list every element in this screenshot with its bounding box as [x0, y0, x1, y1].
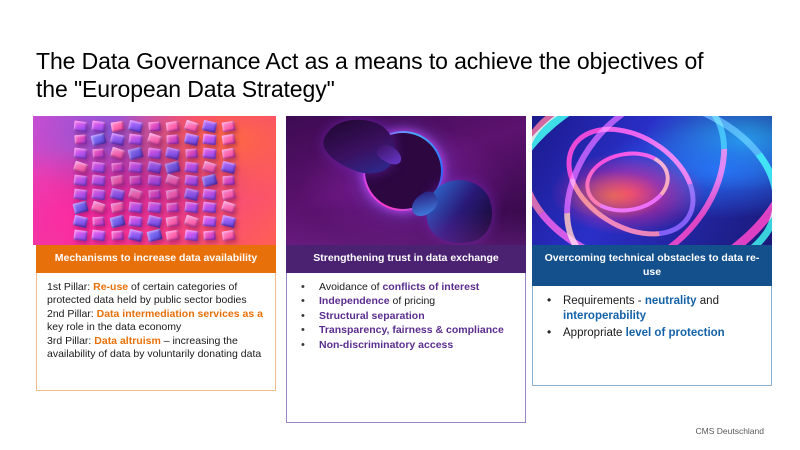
bullet-icon: •	[547, 293, 551, 307]
text-run: 2nd Pillar:	[47, 308, 97, 320]
card-header-mechanisms: Mechanisms to increase data availability	[36, 245, 276, 273]
highlighted-text-run: Transparency, fairness & compliance	[319, 324, 504, 336]
list-item: •Avoidance of conflicts of interest	[293, 281, 519, 295]
card-trust: Strengthening trust in data exchange •Av…	[286, 116, 526, 423]
list-item: •Appropriate level of protection	[539, 326, 765, 341]
body-paragraph: 3rd Pillar: Data altruism – increasing t…	[47, 335, 266, 362]
list-item: •Requirements - neutrality and interoper…	[539, 294, 765, 324]
highlighted-text-run: Re-use	[93, 281, 128, 293]
highlighted-text-run: level of protection	[626, 327, 725, 339]
pink-cube-grid-image	[33, 116, 276, 245]
highlighted-text-run: conflicts of interest	[382, 281, 479, 293]
page-title: The Data Governance Act as a means to ac…	[36, 47, 736, 103]
highlighted-text-run: Data intermediation services as a	[97, 308, 263, 320]
text-run: 1st Pillar:	[47, 281, 93, 293]
footer-credit: CMS Deutschland	[695, 426, 764, 436]
highlighted-text-run: Independence	[319, 295, 390, 307]
list-item: •Structural separation	[293, 310, 519, 324]
list-item: •Non-discriminatory access	[293, 339, 519, 353]
text-run: 3rd Pillar:	[47, 335, 94, 347]
abstract-swirl-image	[532, 116, 772, 245]
highlighted-text-run: neutrality	[645, 295, 697, 307]
highlighted-text-run: Data altruism	[94, 335, 161, 347]
card-header-obstacles: Overcoming technical obstacles to data r…	[532, 245, 772, 286]
text-run: and	[697, 295, 719, 307]
bullet-icon: •	[301, 323, 305, 337]
bullet-list: •Requirements - neutrality and interoper…	[539, 294, 765, 341]
body-paragraph: 1st Pillar: Re-use of certain categories…	[47, 281, 266, 308]
bullet-icon: •	[301, 338, 305, 352]
list-item: •Transparency, fairness & compliance	[293, 324, 519, 338]
text-run: key role in the data economy	[47, 321, 181, 333]
bullet-icon: •	[301, 280, 305, 294]
text-run: of pricing	[390, 295, 436, 307]
card-body-obstacles: •Requirements - neutrality and interoper…	[532, 286, 772, 386]
bullet-list: •Avoidance of conflicts of interest•Inde…	[293, 281, 519, 353]
bullet-icon: •	[301, 309, 305, 323]
card-header-trust: Strengthening trust in data exchange	[286, 245, 526, 273]
card-body-mechanisms: 1st Pillar: Re-use of certain categories…	[36, 273, 276, 391]
bullet-icon: •	[547, 325, 551, 339]
bullet-icon: •	[301, 294, 305, 308]
text-run: Appropriate	[563, 327, 626, 339]
card-mechanisms: Mechanisms to increase data availability…	[33, 116, 276, 391]
list-item: •Independence of pricing	[293, 295, 519, 309]
body-paragraph: 2nd Pillar: Data intermediation services…	[47, 308, 266, 335]
highlighted-text-run: interoperability	[563, 310, 646, 322]
highlighted-text-run: Structural separation	[319, 310, 425, 322]
highlighted-text-run: Non-discriminatory access	[319, 339, 453, 351]
card-obstacles: Overcoming technical obstacles to data r…	[532, 116, 772, 386]
neon-ring-hands-image	[286, 116, 526, 245]
card-body-trust: •Avoidance of conflicts of interest•Inde…	[286, 273, 526, 423]
text-run: Avoidance of	[319, 281, 382, 293]
text-run: Requirements -	[563, 295, 645, 307]
